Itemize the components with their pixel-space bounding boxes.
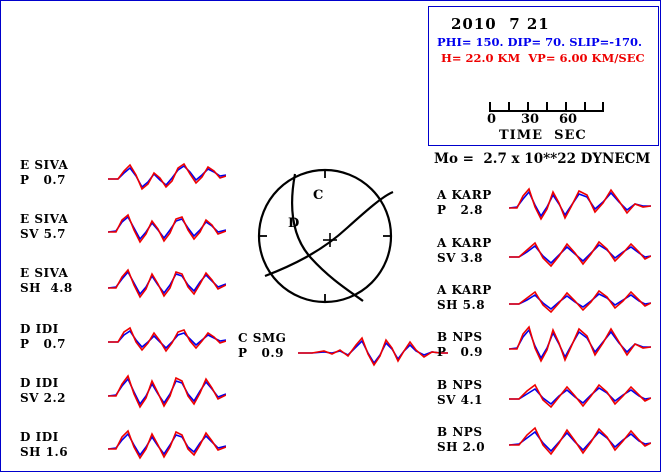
phase-amplitude-label: P 0.7 xyxy=(20,173,66,187)
station-label: A KARP xyxy=(437,236,492,250)
time-axis-labels: 0 30 60 xyxy=(471,112,621,126)
time-tick xyxy=(602,102,604,112)
time-tick-label-30: 30 xyxy=(521,112,539,127)
station-label: E SIVA xyxy=(20,266,68,280)
time-tick-label-60: 60 xyxy=(559,112,577,127)
waveform-trace xyxy=(509,232,651,278)
depth-velocity-parameters: H= 22.0 KM VP= 6.00 KM/SEC xyxy=(441,51,645,65)
waveform-panel: E SIVA P 0.7 xyxy=(20,158,210,200)
waveform-trace xyxy=(509,374,651,420)
synthetic-trace xyxy=(509,189,651,219)
waveform-trace xyxy=(298,329,448,373)
station-label: A KARP xyxy=(437,188,492,202)
station-label: A KARP xyxy=(437,283,492,297)
waveform-trace xyxy=(108,154,226,198)
station-label: E SIVA xyxy=(20,212,68,226)
station-label: B NPS xyxy=(437,378,482,392)
waveform-trace xyxy=(108,370,226,416)
waveform-panel: B NPS P 0.9 xyxy=(437,330,647,372)
synthetic-trace xyxy=(108,164,226,189)
waveform-panel: C SMG P 0.9 xyxy=(238,331,418,373)
station-label: D IDI xyxy=(20,376,59,390)
time-tick xyxy=(565,102,567,112)
time-tick xyxy=(546,102,548,112)
waveform-trace xyxy=(108,208,226,252)
phase-amplitude-label: P 0.9 xyxy=(437,345,483,359)
waveform-panel: B NPS SV 4.1 xyxy=(437,378,647,420)
phase-amplitude-label: SV 2.2 xyxy=(20,391,66,405)
waveform-panel: A KARP SH 5.8 xyxy=(437,283,647,325)
nodal-plane-2 xyxy=(265,192,393,276)
synthetic-trace xyxy=(509,428,651,454)
waveform-trace xyxy=(509,279,651,325)
beachball-svg xyxy=(255,166,395,306)
time-axis-scale xyxy=(489,102,604,112)
event-info-box: 2010 7 21 PHI= 150. DIP= 70. SLIP=-170. … xyxy=(428,6,659,146)
phase-amplitude-label: P 0.7 xyxy=(20,337,66,351)
waveform-panel: E SIVA SH 4.8 xyxy=(20,266,210,308)
station-label: B NPS xyxy=(437,330,482,344)
waveform-trace xyxy=(509,419,651,465)
phase-amplitude-label: SH 4.8 xyxy=(20,281,73,295)
focal-mechanism-parameters: PHI= 150. DIP= 70. SLIP=-170. xyxy=(437,35,642,49)
phase-amplitude-label: SV 4.1 xyxy=(437,393,483,407)
station-label: B NPS xyxy=(437,425,482,439)
dilatation-quadrant-label: D xyxy=(288,216,299,231)
waveform-trace xyxy=(108,262,226,306)
waveform-panel: D IDI SH 1.6 xyxy=(20,430,210,472)
waveform-panel: A KARP SV 3.8 xyxy=(437,236,647,278)
phase-amplitude-label: P 2.8 xyxy=(437,203,483,217)
waveform-panel: D IDI SV 2.2 xyxy=(20,376,210,418)
station-label: C SMG xyxy=(238,331,286,345)
waveform-trace xyxy=(509,182,651,228)
compression-quadrant-label: C xyxy=(313,188,323,203)
phase-amplitude-label: SV 3.8 xyxy=(437,251,483,265)
time-tick xyxy=(489,102,491,112)
seismic-moment: Mo = 2.7 x 10**22 DYNECM xyxy=(434,151,650,167)
synthetic-trace xyxy=(509,242,651,266)
time-tick xyxy=(584,102,586,112)
time-tick-label-0: 0 xyxy=(487,112,496,127)
time-tick xyxy=(527,102,529,112)
waveform-trace xyxy=(108,318,226,362)
phase-amplitude-label: SV 5.7 xyxy=(20,227,66,241)
waveform-trace xyxy=(509,322,651,370)
focal-sphere-outline xyxy=(259,170,391,302)
station-label: E SIVA xyxy=(20,158,68,172)
phase-amplitude-label: SH 1.6 xyxy=(20,445,68,459)
phase-amplitude-label: P 0.9 xyxy=(238,346,284,360)
observed-trace xyxy=(509,192,651,216)
nodal-plane-1 xyxy=(292,174,363,301)
waveform-trace xyxy=(108,422,226,468)
time-tick xyxy=(508,102,510,112)
phase-amplitude-label: SH 2.0 xyxy=(437,440,485,454)
synthetic-trace xyxy=(108,431,226,458)
waveform-panel: A KARP P 2.8 xyxy=(437,188,647,230)
time-axis-title: TIME SEC xyxy=(499,128,587,143)
waveform-panel: B NPS SH 2.0 xyxy=(437,425,647,467)
event-date: 2010 7 21 xyxy=(451,15,550,33)
synthetic-trace xyxy=(509,385,651,407)
waveform-panel: D IDI P 0.7 xyxy=(20,322,210,364)
focal-mechanism-beachball: C D xyxy=(255,166,395,306)
phase-amplitude-label: SH 5.8 xyxy=(437,298,485,312)
station-label: D IDI xyxy=(20,322,59,336)
station-label: D IDI xyxy=(20,430,59,444)
synthetic-trace xyxy=(509,291,651,312)
waveform-panel: E SIVA SV 5.7 xyxy=(20,212,210,254)
